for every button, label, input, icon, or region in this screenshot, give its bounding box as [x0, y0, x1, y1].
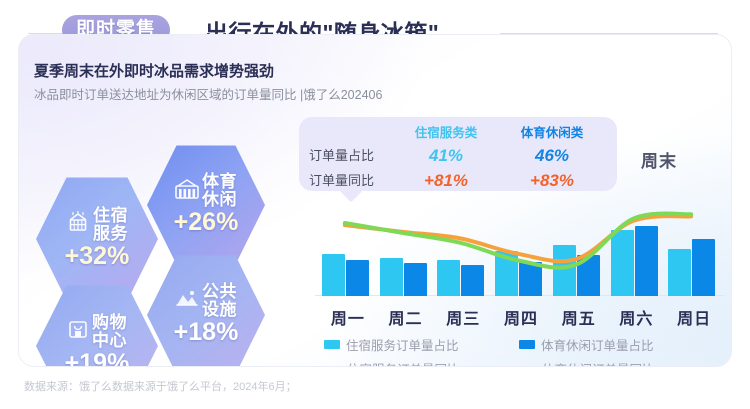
hexagon-group: 体育休闲 +26% 公共设施	[19, 35, 319, 367]
content-card: 夏季周末在外即时冰品需求增势强劲 冰品即时订单送达地址为休闲区域的订单量同比 |…	[18, 34, 732, 367]
hotel-icon	[66, 210, 90, 239]
hex-label-mall: 购物中心	[92, 314, 127, 349]
trend-line-lodging	[345, 216, 691, 261]
legend-item-lodging-yoy: 住宿服务订单量同比	[324, 359, 460, 367]
callout-r1c2-value: 46%	[499, 144, 605, 168]
shop-icon	[67, 318, 89, 345]
callout-r2c2-value: +83%	[499, 169, 605, 193]
stadium-icon	[175, 177, 199, 204]
x-axis-label: 周五	[551, 305, 607, 329]
hex-tile-lodging: 住宿服务 +32%	[36, 175, 158, 303]
callout-row1-label: 订单量占比	[309, 144, 393, 168]
legend-item-sports-share: 体育休闲订单量占比	[519, 335, 654, 354]
infographic-root: 即时零售 出行在外的"随身冰箱" 夏季周末在外即时冰品需求增势强劲 冰品即时订单…	[0, 0, 750, 409]
source-note: 数据来源：饿了么数据来源于饿了么平台，2024年6月；	[24, 378, 297, 394]
hex-tile-public: 公共设施 +18%	[147, 253, 265, 367]
callout-r2c1-value: +81%	[393, 169, 499, 193]
callout-col1-header: 住宿服务类	[393, 123, 499, 143]
chart-trend-lines	[319, 201, 723, 296]
legend-label: 住宿服务订单量占比	[346, 335, 459, 354]
callout-row2-label: 订单量同比	[309, 169, 393, 193]
x-axis-label: 周三	[435, 305, 491, 329]
callout-col2-header: 体育休闲类	[499, 123, 605, 143]
legend-swatch	[324, 340, 340, 349]
hex-tile-mall: 购物中心 +19%	[36, 283, 158, 367]
trend-line-sports	[345, 214, 691, 268]
hex-value-sports: +26%	[174, 209, 239, 237]
legend-swatch	[519, 340, 535, 349]
weekend-annotation: 周末	[641, 147, 677, 172]
legend-swatch	[519, 367, 536, 368]
legend-label: 体育休闲订单量占比	[541, 335, 654, 354]
legend-swatch	[324, 367, 341, 368]
hex-value-mall: +19%	[65, 350, 130, 367]
hex-label-sports: 体育休闲	[202, 173, 237, 208]
hex-value-lodging: +32%	[65, 243, 130, 271]
callout-r1c1-value: 41%	[393, 144, 499, 168]
stats-callout: 住宿服务类 体育休闲类 订单量占比 41% 46% 订单量同比 +81% +83…	[299, 117, 617, 191]
x-axis-label: 周四	[493, 305, 549, 329]
x-axis-label: 周六	[608, 305, 664, 329]
park-icon	[175, 287, 199, 314]
hex-label-public: 公共设施	[202, 283, 237, 318]
x-axis-label: 周二	[378, 305, 434, 329]
hex-label-lodging: 住宿服务	[93, 207, 128, 242]
hex-value-public: +18%	[174, 319, 239, 347]
legend-label: 体育休闲订单量同比	[542, 359, 655, 367]
x-axis-label: 周日	[666, 305, 722, 329]
legend-label: 住宿服务订单量同比	[347, 359, 460, 367]
hex-tile-sports: 体育休闲 +26%	[147, 143, 265, 267]
bar-line-chart	[319, 201, 723, 296]
chart-x-axis-labels: 周一周二周三周四周五周六周日	[319, 305, 729, 329]
x-axis-label: 周一	[320, 305, 376, 329]
legend-item-sports-yoy: 体育休闲订单量同比	[519, 359, 655, 367]
chart-legend: 住宿服务订单量占比体育休闲订单量占比住宿服务订单量同比体育休闲订单量同比	[324, 335, 724, 367]
legend-item-lodging-share: 住宿服务订单量占比	[324, 335, 459, 354]
